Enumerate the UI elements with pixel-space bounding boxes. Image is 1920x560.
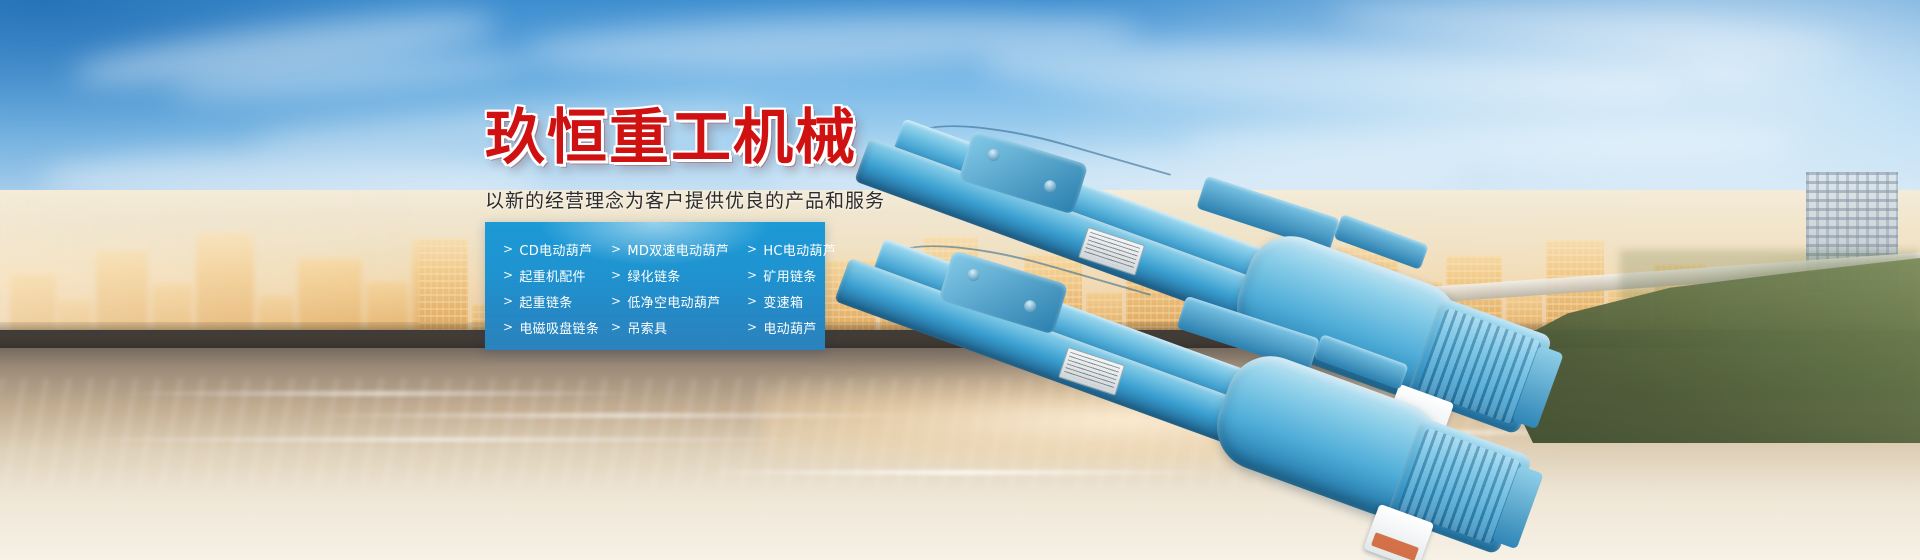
product-label: 矿用链条 [763, 266, 816, 285]
road-speed-streak [60, 438, 820, 441]
product-list-panel: > CD电动葫芦 > MD双速电动葫芦 > HC电动葫芦 > 起重机配件 > 绿… [485, 222, 825, 350]
chevron-right-icon: > [611, 295, 621, 307]
product-label: 绿化链条 [627, 266, 680, 285]
product-label: 起重链条 [519, 292, 572, 311]
company-subheadline: 以新的经营理念为客户提供优良的产品和服务 [485, 186, 905, 213]
product-label: 起重机配件 [519, 266, 586, 285]
product-link-magnetic-chuck-chain[interactable]: > 电磁吸盘链条 [503, 314, 611, 340]
chevron-right-icon: > [611, 321, 621, 333]
product-link-md-dual-speed-hoist[interactable]: > MD双速电动葫芦 [611, 236, 747, 262]
chevron-right-icon: > [747, 243, 757, 255]
chevron-right-icon: > [747, 321, 757, 333]
product-link-low-headroom-hoist[interactable]: > 低净空电动葫芦 [611, 288, 747, 314]
product-label: HC电动葫芦 [763, 240, 836, 259]
product-link-mining-chain[interactable]: > 矿用链条 [747, 262, 836, 288]
chevron-right-icon: > [611, 243, 621, 255]
chevron-right-icon: > [503, 321, 513, 333]
product-link-lifting-chain[interactable]: > 起重链条 [503, 288, 611, 314]
product-link-gearbox[interactable]: > 变速箱 [747, 288, 836, 314]
chevron-right-icon: > [503, 269, 513, 281]
product-label: 电磁吸盘链条 [519, 318, 599, 337]
product-label: 电动葫芦 [763, 318, 816, 337]
product-label: 低净空电动葫芦 [627, 292, 720, 311]
chevron-right-icon: > [503, 243, 513, 255]
product-list-grid: > CD电动葫芦 > MD双速电动葫芦 > HC电动葫芦 > 起重机配件 > 绿… [485, 222, 825, 350]
hero-banner: 玖恒重工机械 以新的经营理念为客户提供优良的产品和服务 > CD电动葫芦 > M… [0, 0, 1920, 560]
product-link-hc-electric-hoist[interactable]: > HC电动葫芦 [747, 236, 836, 262]
chevron-right-icon: > [747, 269, 757, 281]
product-link-cd-electric-hoist[interactable]: > CD电动葫芦 [503, 236, 611, 262]
chevron-right-icon: > [747, 295, 757, 307]
product-link-greening-chain[interactable]: > 绿化链条 [611, 262, 747, 288]
product-label: 变速箱 [763, 292, 803, 311]
banner-copy-block: 玖恒重工机械 以新的经营理念为客户提供优良的产品和服务 [485, 108, 905, 213]
product-link-slings[interactable]: > 吊索具 [611, 314, 747, 340]
company-headline: 玖恒重工机械 [485, 108, 905, 168]
chevron-right-icon: > [503, 295, 513, 307]
road-speed-streak [120, 392, 640, 395]
product-link-electric-hoist[interactable]: > 电动葫芦 [747, 314, 836, 340]
product-label: CD电动葫芦 [519, 240, 592, 259]
product-label: 吊索具 [627, 318, 667, 337]
product-link-crane-parts[interactable]: > 起重机配件 [503, 262, 611, 288]
electric-hoist-product-images [860, 40, 1920, 440]
product-label: MD双速电动葫芦 [627, 240, 729, 259]
chevron-right-icon: > [611, 269, 621, 281]
